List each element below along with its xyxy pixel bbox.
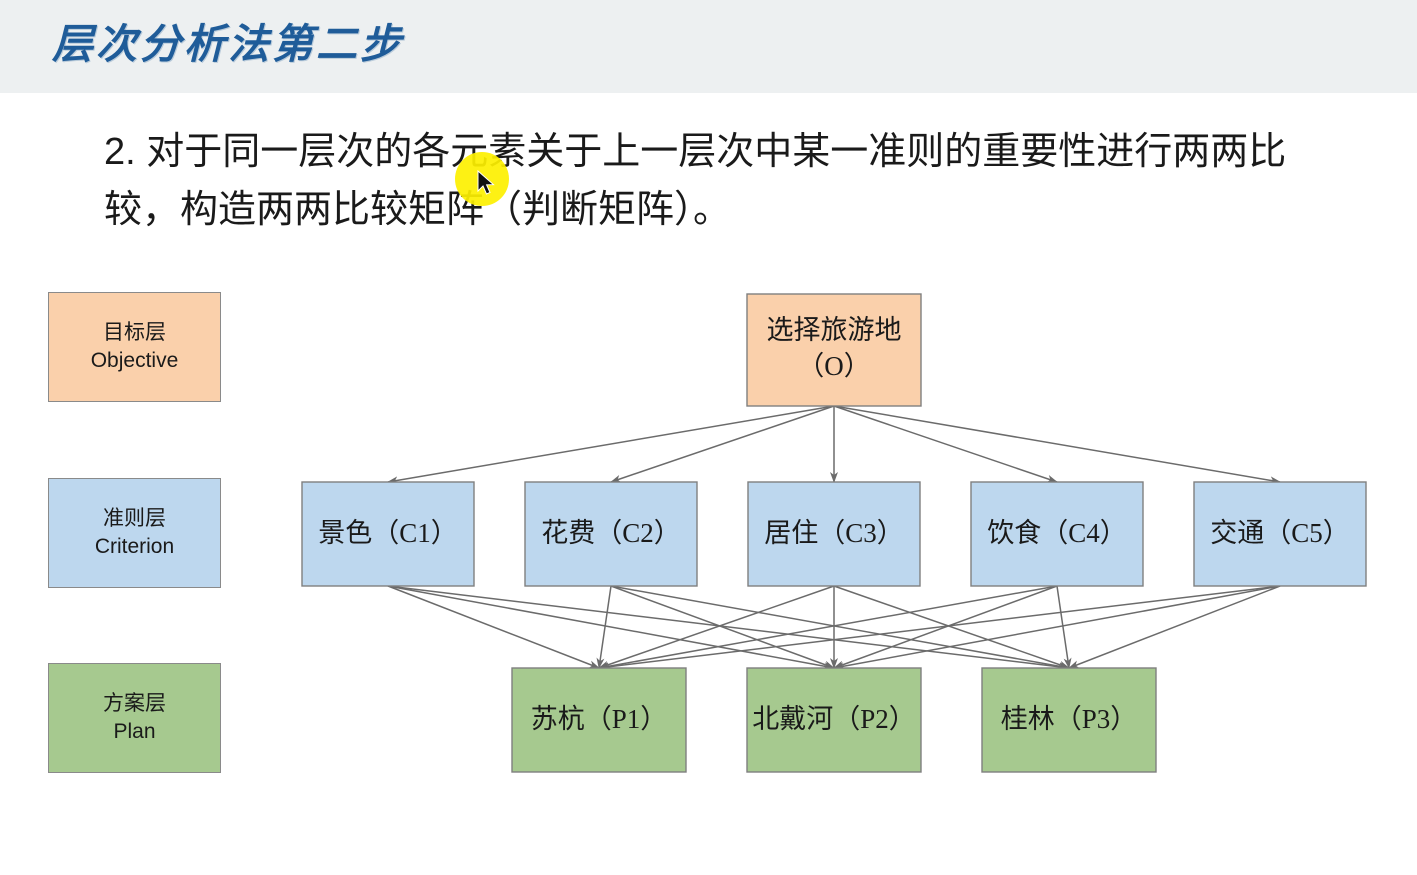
plan-node-p2: 北戴河（P2） <box>747 668 921 772</box>
legend-criterion-en: Criterion <box>95 533 174 561</box>
edge-c4-to-p1 <box>599 586 1057 668</box>
mouse-pointer-icon <box>477 170 497 198</box>
criterion-node-c2-rect <box>525 482 697 586</box>
slide-page: 层次分析法第二步 2. 对于同一层次的各元素关于上一层次中某一准则的重要性进行两… <box>0 0 1417 875</box>
plan-node-p3: 桂林（P3） <box>982 668 1156 772</box>
plan-node-p2-label: 北戴河（P2） <box>752 704 916 734</box>
edge-c1-to-p3 <box>388 586 1069 668</box>
edge-c4-to-p3 <box>1057 586 1069 668</box>
criterion-node-c2: 花费（C2） <box>525 482 697 586</box>
edge-c5-to-p2 <box>834 586 1280 668</box>
criterion-node-c4-label: 饮食（C4） <box>987 518 1127 548</box>
plan-node-p3-label: 桂林（P3） <box>1001 704 1138 734</box>
slide-body-text: 2. 对于同一层次的各元素关于上一层次中某一准则的重要性进行两两比较，构造两两比… <box>104 124 1319 240</box>
edge-c1-to-p2 <box>388 586 834 668</box>
legend-objective-en: Objective <box>91 347 179 375</box>
objective-node-o: 选择旅游地（O） <box>747 294 921 406</box>
plan-node-p1-label: 苏杭（P1） <box>531 704 668 734</box>
edge-o-to-c2 <box>611 406 834 482</box>
objective-node-o-label-line2: （O） <box>797 351 871 381</box>
legend-box-objective: 目标层 Objective <box>48 292 221 402</box>
plan-node-p2-rect <box>747 668 921 772</box>
diagram-edges <box>388 406 1280 668</box>
criterion-node-c1-rect <box>302 482 474 586</box>
plan-node-p1-rect <box>512 668 686 772</box>
legend-box-criterion: 准则层 Criterion <box>48 478 221 588</box>
legend-box-plan: 方案层 Plan <box>48 663 221 773</box>
edge-c5-to-p3 <box>1069 586 1280 668</box>
criterion-node-c2-label: 花费（C2） <box>541 518 681 548</box>
edge-o-to-c5 <box>834 406 1280 482</box>
edge-c3-to-p3 <box>834 586 1069 668</box>
edge-c2-to-p2 <box>611 586 834 668</box>
criterion-node-c4: 饮食（C4） <box>971 482 1143 586</box>
criterion-node-c4-rect <box>971 482 1143 586</box>
objective-node-o-label-line1: 选择旅游地 <box>767 315 902 345</box>
criterion-node-c1-label: 景色（C1） <box>318 518 458 548</box>
criterion-node-c5: 交通（C5） <box>1194 482 1366 586</box>
legend-plan-en: Plan <box>113 718 155 746</box>
plan-node-p1: 苏杭（P1） <box>512 668 686 772</box>
criterion-node-c5-rect <box>1194 482 1366 586</box>
criterion-node-c1: 景色（C1） <box>302 482 474 586</box>
objective-node-o-rect <box>747 294 921 406</box>
edge-c1-to-p1 <box>388 586 599 668</box>
page-title: 层次分析法第二步 <box>52 10 404 70</box>
edge-c3-to-p1 <box>599 586 834 668</box>
diagram-nodes: 选择旅游地（O）景色（C1）花费（C2）居住（C3）饮食（C4）交通（C5）苏杭… <box>302 294 1366 772</box>
criterion-node-c3: 居住（C3） <box>748 482 920 586</box>
criterion-node-c5-label: 交通（C5） <box>1210 518 1350 548</box>
legend-objective-cn: 目标层 <box>103 319 166 347</box>
edge-c4-to-p2 <box>834 586 1057 668</box>
legend-plan-cn: 方案层 <box>103 690 166 718</box>
legend-criterion-cn: 准则层 <box>103 505 166 533</box>
edge-c2-to-p1 <box>599 586 611 668</box>
edge-c5-to-p1 <box>599 586 1280 668</box>
edge-c2-to-p3 <box>611 586 1069 668</box>
plan-node-p3-rect <box>982 668 1156 772</box>
edge-o-to-c4 <box>834 406 1057 482</box>
criterion-node-c3-rect <box>748 482 920 586</box>
edge-o-to-c1 <box>388 406 834 482</box>
criterion-node-c3-label: 居住（C3） <box>764 518 904 548</box>
